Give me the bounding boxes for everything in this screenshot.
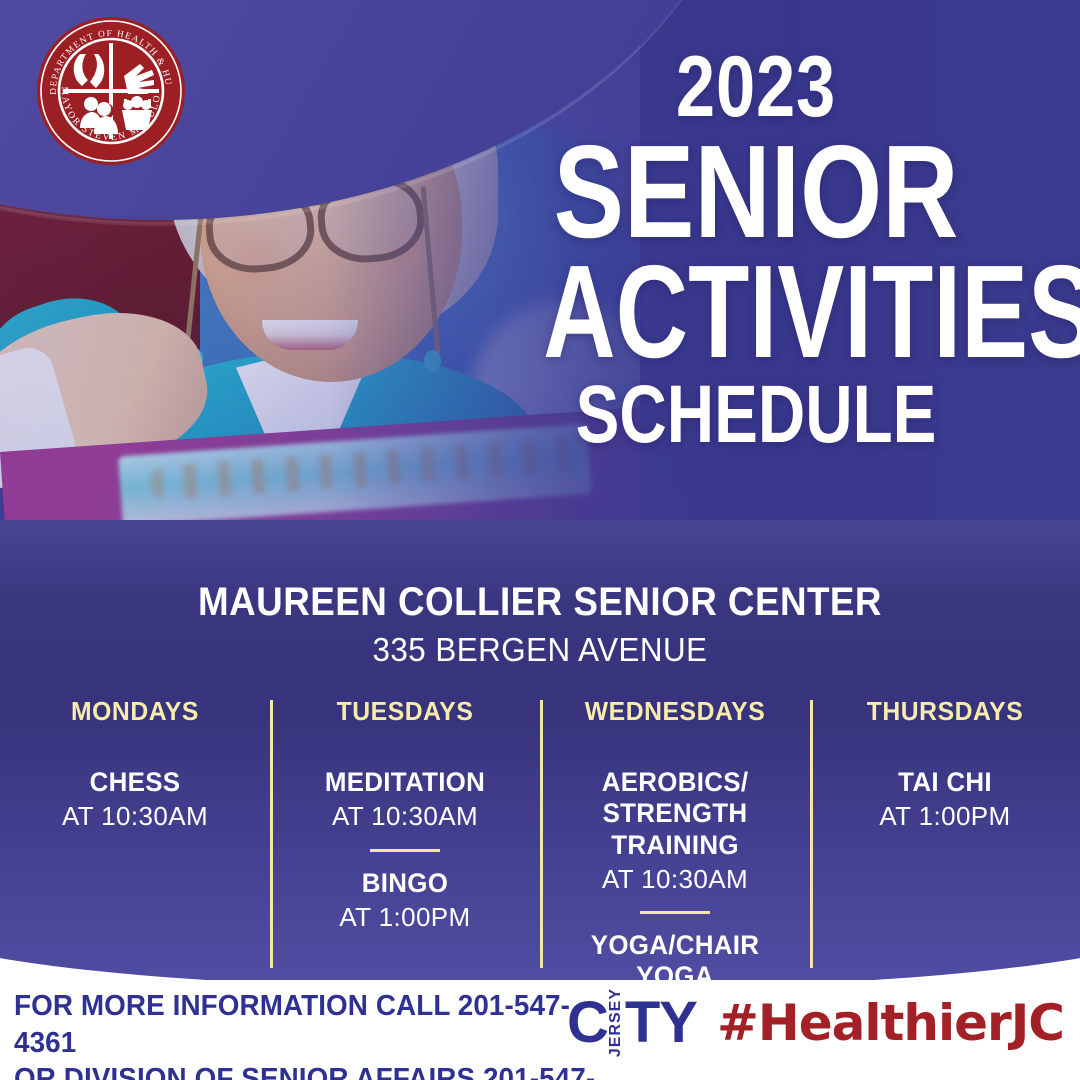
schedule-panel: MAUREEN COLLIER SENIOR CENTER 335 BERGEN… <box>0 520 1080 980</box>
title-line-senior: SENIOR <box>532 133 980 252</box>
jersey-city-logo: C JERSEY TY <box>567 988 697 1057</box>
activity-name: MEDITATION <box>285 767 525 798</box>
footer-bar: FOR MORE INFORMATION CALL 201-547- 4361 … <box>0 980 1080 1080</box>
activity-time: AT 10:30AM <box>280 801 530 832</box>
schedule-column-thursdays: THURSDAYS TAI CHI AT 1:00PM <box>810 696 1080 971</box>
jc-logo-c: C <box>567 999 607 1047</box>
jc-logo-ty: TY <box>625 999 697 1047</box>
activity-time: AT 1:00PM <box>820 801 1070 832</box>
slot-mondays-1: CHESS AT 10:30AM <box>10 767 260 833</box>
slot-wednesdays-2: YOGA/CHAIR YOGA AT 1:00PM <box>550 930 800 980</box>
slot-tuesdays-2: BINGO AT 1:00PM <box>280 868 530 934</box>
contact-info: FOR MORE INFORMATION CALL 201-547- 4361 … <box>14 988 654 1080</box>
slot-wednesdays-1: AEROBICS/ STRENGTH TRAINING AT 10:30AM <box>550 767 800 895</box>
poster-title-block: 2023 SENIOR ACTIVITIES SCHEDULE <box>476 46 1036 454</box>
slot-divider <box>370 849 440 852</box>
activity-name: CHESS <box>15 767 255 798</box>
day-header-mondays: MONDAYS <box>16 696 254 727</box>
schedule-columns: MONDAYS CHESS AT 10:30AM TUESDAYS MEDITA… <box>0 696 1080 971</box>
slot-tuesdays-1: MEDITATION AT 10:30AM <box>280 767 530 833</box>
schedule-column-wednesdays: WEDNESDAYS AEROBICS/ STRENGTH TRAINING A… <box>540 696 810 971</box>
healthier-jc-hashtag: #HealthierJC <box>717 994 1064 1052</box>
slot-thursdays-1: TAI CHI AT 1:00PM <box>820 767 1070 833</box>
schedule-column-mondays: MONDAYS CHESS AT 10:30AM <box>0 696 270 971</box>
activity-name: TAI CHI <box>825 767 1065 798</box>
contact-line-1: FOR MORE INFORMATION CALL 201-547- 4361 <box>14 988 628 1061</box>
schedule-column-tuesdays: TUESDAYS MEDITATION AT 10:30AM BINGO AT … <box>270 696 540 971</box>
activity-time: AT 10:30AM <box>550 864 800 895</box>
hero-section: JERSEY CITY DEPARTMENT OF HEALTH & HUMAN… <box>0 0 1080 565</box>
brand-row: C JERSEY TY #HealthierJC <box>567 992 1064 1054</box>
title-year: 2023 <box>526 46 985 129</box>
jc-logo-jersey: JERSEY <box>608 988 624 1057</box>
title-line-schedule: SCHEDULE <box>532 376 980 454</box>
venue-block: MAUREEN COLLIER SENIOR CENTER 335 BERGEN… <box>0 580 1080 669</box>
contact-line-2: OR DIVISION OF SENIOR AFFAIRS 201-547-57… <box>14 1061 628 1080</box>
activity-name: AEROBICS/ STRENGTH TRAINING <box>555 767 795 861</box>
activity-name: BINGO <box>285 868 525 899</box>
venue-address: 335 BERGEN AVENUE <box>27 631 1053 669</box>
venue-name: MAUREEN COLLIER SENIOR CENTER <box>43 580 1037 625</box>
activity-time: AT 1:00PM <box>280 902 530 933</box>
activity-name: YOGA/CHAIR YOGA <box>555 930 795 980</box>
day-header-wednesdays: WEDNESDAYS <box>556 696 794 727</box>
activity-time: AT 10:30AM <box>10 801 260 832</box>
day-header-tuesdays: TUESDAYS <box>286 696 524 727</box>
health-human-services-seal-icon: JERSEY CITY DEPARTMENT OF HEALTH & HUMAN… <box>36 16 186 166</box>
poster-canvas: JERSEY CITY DEPARTMENT OF HEALTH & HUMAN… <box>0 0 1080 1080</box>
title-line-activities: ACTIVITIES <box>543 253 969 372</box>
slot-divider <box>640 911 710 914</box>
day-header-thursdays: THURSDAYS <box>826 696 1064 727</box>
